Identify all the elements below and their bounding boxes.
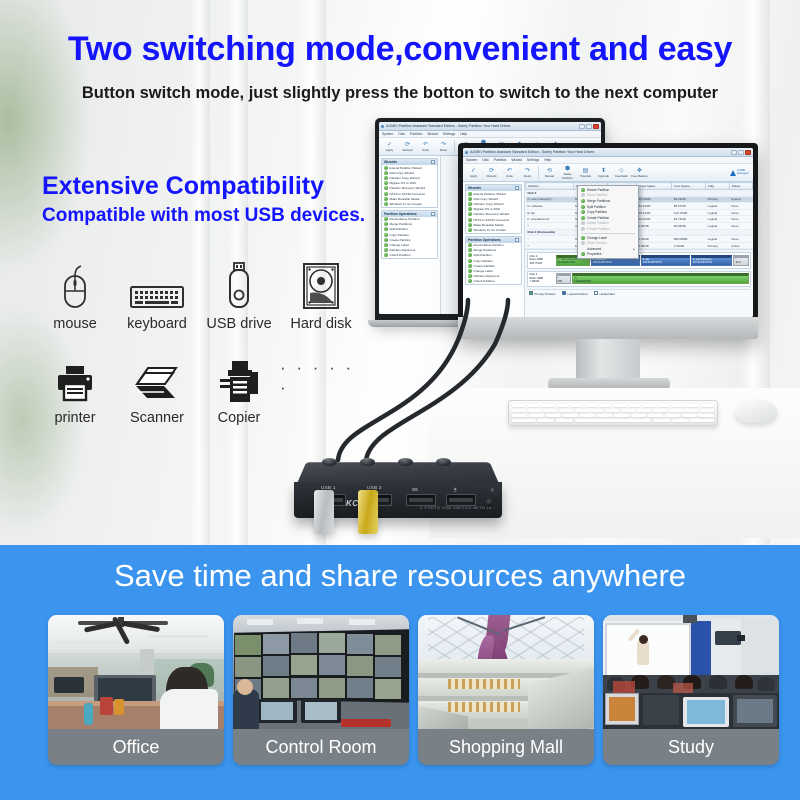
context-menu-label: Split Partition (587, 205, 606, 209)
key (686, 404, 699, 407)
toolbar: ✓Apply ⟳Discard ↶Undo ↷Redo ⟲Reload ⬢Saf… (463, 164, 753, 182)
key (690, 419, 714, 422)
sidebar-item-label: Extend Partition Wizard (474, 192, 506, 196)
context-menu-label: Change Label (587, 236, 607, 240)
partition-block[interactable]: *30.0... (733, 255, 748, 266)
legend-item-logical: Logical Partition (562, 291, 588, 296)
key (599, 404, 612, 407)
menu-item-help[interactable]: Help (460, 132, 467, 136)
sidebar-item[interactable]: Windows To Go Creator (382, 201, 437, 206)
mouse-port-icon: 🖱 (454, 487, 456, 492)
wizard-icon (468, 228, 472, 232)
wipe-icon (581, 241, 585, 245)
menubar: System Disk Partition Wizard Settings He… (379, 131, 601, 138)
cell-flag: Logical (706, 236, 730, 243)
shopping-mall-photo (418, 615, 594, 729)
sidebar-item[interactable]: Check Partition (466, 279, 521, 284)
sidebar-item-label: Disk Copy Wizard (390, 171, 415, 175)
cell-free: 46.71GB (672, 216, 706, 223)
collapse-icon[interactable] (431, 160, 435, 164)
toolbar-button-tutorials[interactable]: ▤Tutorials (577, 167, 594, 178)
context-menu-label: Format Partition (587, 227, 610, 231)
disk-map: Disk 0 Basic MBR 465.76GB C: new volume(… (525, 249, 753, 298)
legend-swatch-icon (562, 291, 566, 295)
toolbar-button-undo[interactable]: ↶Undo (501, 167, 518, 178)
disk-group-label: Disk 0 (526, 190, 753, 197)
sidebar-item-label: Partition Recovery Wizard (474, 212, 510, 216)
operation-icon (384, 222, 388, 226)
key (597, 414, 612, 417)
key (637, 409, 651, 412)
mouse-icon (60, 258, 90, 310)
use-case-cards: Office (48, 615, 779, 765)
format-icon (581, 227, 585, 231)
sidebar: Wizards Extend Partition Wizard Disk Cop… (379, 156, 441, 314)
cell-partition: E: file (526, 209, 574, 216)
context-menu-label: Properties (587, 252, 602, 256)
legend-label: Primary Partition (535, 292, 556, 296)
menu-item-partition[interactable]: Partition (410, 132, 422, 136)
sidebar-item-label: Disk Copy Wizard (474, 197, 499, 201)
toolbar-button-feedback[interactable]: ☺Feedback (613, 167, 630, 178)
device-label: Copier (218, 410, 261, 426)
sidebar-item-label: Merge Partitions (390, 222, 413, 226)
key (669, 409, 683, 412)
label-icon (581, 236, 585, 240)
cell-free: 59.21GB (672, 196, 706, 203)
wizard-icon (384, 202, 388, 206)
key (580, 414, 595, 417)
table-row[interactable]: * Unallocated 30.09GB 0.00GB 30.09GB Log… (526, 222, 753, 229)
card-caption: Shopping Mall (418, 729, 594, 765)
disk-group-label: Disk 2 (Removable) (526, 229, 753, 236)
menu-item-wizard[interactable]: Wizard (427, 132, 438, 136)
aomei-brand-logo: AOMEIbackupper (730, 170, 751, 176)
context-menu-label: Create Partition (587, 216, 609, 220)
sidebar-item-label: Partition Alignment (390, 248, 416, 252)
toolbar-button-upgrade[interactable]: ⬆Upgrade (595, 167, 612, 178)
ir-receiver[interactable] (486, 498, 493, 507)
menu-item-system[interactable]: System (382, 132, 393, 136)
wizard-icon (468, 202, 472, 206)
context-menu-item: Format Partition (578, 226, 638, 232)
toolbar-button-apply[interactable]: ✓Apply (465, 167, 482, 178)
panel-wizards: Wizards Extend Partition Wizard Disk Cop… (465, 184, 522, 234)
sidebar-item[interactable]: Windows To Go Creator (466, 227, 521, 232)
photo-art (418, 615, 594, 729)
wizard-icon (468, 207, 472, 211)
cell-flag: Logical (706, 222, 730, 229)
monitor-stand-neck (576, 339, 640, 381)
toolbar-label: Discard (487, 174, 497, 178)
wizard-icon (468, 218, 472, 222)
key (653, 419, 670, 422)
menu-item-partition[interactable]: Partition (494, 158, 506, 162)
disk-map-legend: Primary Partition Logical Partition Unal… (527, 289, 751, 297)
panel-title: Wizards (384, 160, 397, 164)
sidebar-item-label: Resize/Move Partition (474, 243, 504, 247)
toolbar-button-redo[interactable]: ↷Redo (435, 141, 452, 152)
card-caption: Control Room (233, 729, 409, 765)
partition-context-menu[interactable]: Resize Partition Move Partition Merge Pa… (577, 185, 639, 259)
toolbar-label: Feedback (615, 174, 628, 178)
context-menu-label: Delete Partition (587, 221, 609, 225)
sidebar-item-label: Resize/Move Partition (390, 217, 420, 221)
collapse-icon[interactable] (515, 238, 519, 242)
key (653, 409, 667, 412)
context-menu-label: Resize Partition (587, 188, 609, 192)
cell-flag: Logical (706, 216, 730, 223)
use-case-card-study[interactable]: Study (603, 615, 779, 765)
window-titlebar: AOMEI Partition Assistant Standard Editi… (379, 122, 601, 131)
operation-icon (384, 217, 388, 221)
toolbar-label: Free Backup (631, 174, 647, 178)
device-label: Scanner (130, 410, 184, 426)
cell-flag: Logical (706, 203, 730, 210)
sidebar-item-label: Change Label (474, 269, 493, 273)
brand-sub-label: backupper (737, 172, 749, 175)
photo-art (233, 615, 409, 729)
device-item-mouse: mouse (34, 258, 116, 332)
cell-status: None (729, 222, 752, 229)
operation-icon (384, 238, 388, 242)
sidebar-item-label: Check Partition (474, 279, 495, 283)
key (701, 404, 714, 407)
wizard-icon (384, 166, 388, 170)
resize-icon (581, 188, 585, 192)
legend-label: Unallocated (599, 292, 614, 296)
device-model-text: 4 PORTS USB SWITCH WITH IR (420, 506, 492, 510)
legend-item-primary: Primary Partition (529, 291, 556, 296)
operation-icon (468, 264, 472, 268)
partition-sub: 107.61GB NTFS (693, 261, 712, 264)
toolbar-label: Reload (545, 174, 554, 178)
sidebar-item-label: Migrate OS to SSD (474, 207, 500, 211)
copy-icon (581, 210, 585, 214)
use-case-card-office[interactable]: Office (48, 615, 224, 765)
wizard-icon (468, 197, 472, 201)
column-free-space[interactable]: Free Space (672, 183, 706, 190)
cell-flag: Logical (706, 209, 730, 216)
menubar: System Disk Partition Wizard Settings He… (463, 157, 753, 164)
menu-item-help[interactable]: Help (544, 158, 551, 162)
advanced-icon (581, 247, 585, 251)
sidebar-item-label: Windows To Go Creator (390, 202, 423, 206)
toolbar-button-undo[interactable]: ↶Undo (417, 141, 434, 152)
wizard-icon (384, 171, 388, 175)
device-label: printer (54, 410, 95, 426)
cell-flag: Primary (706, 196, 730, 203)
toolbar-label: Redo (440, 148, 447, 152)
maximize-button[interactable] (738, 150, 744, 155)
cell-free: 58.67GB (672, 203, 706, 210)
sidebar-item-label: Copy Partition (474, 259, 493, 263)
operation-icon (384, 233, 388, 237)
cell-used: 0.00GB (636, 222, 671, 229)
disk-info: Disk 0 Basic MBR 465.76GB (530, 255, 554, 266)
page-subheadline: Button switch mode, just slightly press … (0, 84, 800, 103)
operation-icon (468, 243, 472, 247)
toolbar-button-apply[interactable]: ✓Apply (381, 141, 398, 152)
control-room-photo (233, 615, 409, 729)
keyboard-icon (130, 258, 184, 310)
partition-sub: 30.0... (735, 261, 742, 264)
key (631, 414, 646, 417)
toolbar-label: Redo (524, 174, 531, 178)
table-row[interactable]: * Unallocated 995.00MB 0.00GB 995.00MB L… (526, 236, 753, 243)
cell-partition: F: entertainment (526, 216, 574, 223)
photo-art (48, 615, 224, 729)
copier-icon (219, 352, 259, 404)
operation-icon (384, 253, 388, 257)
table-row[interactable]: D: software NTFS 139.01GB 80.34GB 58.67G… (526, 203, 753, 210)
printer-icon (55, 352, 95, 404)
key (590, 409, 604, 412)
context-menu-label: Wipe Partition (587, 241, 607, 245)
cell-status: None (729, 203, 752, 210)
window-title: AOMEI Partition Assistant Standard Editi… (386, 124, 510, 128)
sidebar-item-label: Split Partition (390, 227, 408, 231)
use-case-card-shopping-mall[interactable]: Shopping Mall (418, 615, 594, 765)
panel-title: Wizards (468, 186, 481, 190)
sidebar-item-label: Make Bootable Media (474, 223, 504, 227)
table-row[interactable]: E: file NTFS 139.01GB 28.31GB 110.70GB L… (526, 209, 753, 216)
sidebar-item-label: Merge Partitions (474, 248, 497, 252)
cell-used: 30.79GB (636, 196, 671, 203)
toolbar-button-free-backup[interactable]: ❖Free Backup (631, 167, 648, 178)
wizard-icon (384, 181, 388, 185)
merge-icon (581, 199, 585, 203)
kvm-switch-device[interactable]: KCEVE 4 PORTS USB SWITCH WITH IR USB 1 U… (288, 440, 508, 535)
compatibility-title: Extensive Compatibility (42, 172, 324, 201)
panel-title: Partition Operations (468, 238, 501, 242)
usb-drive-icon (226, 258, 252, 310)
key (648, 414, 663, 417)
disk-info: Disk 2 Basic MBR 7.98GB (530, 273, 554, 284)
window-title: AOMEI Partition Assistant Standard Editi… (470, 150, 594, 154)
sidebar-item-label: Copy Partition (390, 233, 409, 237)
device-item-keyboard: keyboard (116, 258, 198, 332)
scanner-icon (134, 352, 180, 404)
sidebar-item-label: Partition Copy Wizard (474, 202, 504, 206)
key (698, 414, 713, 417)
operation-icon (384, 248, 388, 252)
sidebar-item-label: Partition Alignment (474, 274, 500, 278)
close-button[interactable] (745, 150, 751, 155)
pc4-button[interactable] (436, 458, 451, 466)
toolbar-button-redo[interactable]: ↷Redo (519, 167, 536, 178)
operation-icon (468, 269, 472, 273)
study-photo (603, 615, 779, 729)
cell-free: 110.70GB (672, 209, 706, 216)
use-case-card-control-room[interactable]: Control Room (233, 615, 409, 765)
operation-icon (468, 253, 472, 257)
operation-icon (468, 248, 472, 252)
partition-sub: 90.01GB NTFS (558, 261, 576, 264)
device-item-scanner: Scanner (116, 352, 198, 426)
toolbar-button-discard[interactable]: ⟳Discard (483, 167, 500, 178)
operation-icon (468, 259, 472, 263)
sidebar-item-label: Split Partition (474, 253, 492, 257)
sidebar-item-label: Create Partition (390, 238, 412, 242)
mouse-port[interactable] (446, 494, 476, 506)
table-row[interactable]: *: FAT32 7.12GB 5.58GB 1.54GB Primary Ac… (526, 242, 753, 249)
toolbar-button-discard[interactable]: ⟳Discard (399, 141, 416, 152)
device-item-copier: Copier (198, 352, 280, 426)
table-group-row[interactable]: Disk 2 (Removable) (526, 229, 753, 236)
sidebar-item-label: NTFS to FAT32 Converter (474, 218, 510, 222)
sidebar-item-label: Make Bootable Media (390, 197, 420, 201)
chevron-right-icon: ▸ (633, 247, 635, 251)
cell-partition: * (526, 222, 574, 229)
cell-partition: D: software (526, 203, 574, 210)
toolbar-label: Undo (506, 174, 513, 178)
legend-item-unallocated: Unallocated (594, 291, 615, 296)
bottom-banner: Save time and share resources anywhere (0, 545, 800, 800)
context-menu-label: Copy Partition (587, 210, 607, 214)
sidebar-item-label: Extend Partition Wizard (390, 166, 422, 170)
app-icon (381, 125, 384, 128)
wizard-icon (468, 212, 472, 216)
panel-partition-operations: Partition Operations Resize/Move Partiti… (465, 236, 522, 286)
menu-item-wizard[interactable]: Wizard (511, 158, 522, 162)
operation-icon (468, 274, 472, 278)
cell-used: 28.31GB (636, 209, 671, 216)
banner-title: Save time and share resources anywhere (0, 558, 800, 594)
cell-flag: Primary (706, 242, 730, 249)
legend-swatch-icon (594, 291, 598, 295)
ir-icon: ◎ (491, 487, 495, 492)
device-item-printer: printer (34, 352, 116, 426)
toolbar-button-safely-partition[interactable]: ⬢Safely Partition (559, 165, 576, 179)
column-flag[interactable]: Flag (706, 183, 730, 190)
sidebar-item-label: Partition Recovery Wizard (390, 186, 426, 190)
sidebar-item-label: NTFS to FAT32 Converter (390, 192, 426, 196)
sidebar-item[interactable]: Check Partition (382, 253, 437, 258)
product-marketing-image: Two switching mode,convenient and easy B… (0, 0, 800, 800)
minimize-button[interactable] (579, 124, 585, 129)
pc1-button[interactable] (322, 458, 337, 466)
partition-block[interactable]: F: entertainment107.61GB NTFS (691, 255, 733, 266)
desktop-mouse[interactable] (735, 399, 777, 423)
menu-item-system[interactable]: System (466, 158, 477, 162)
column-partition[interactable]: Partition (526, 183, 574, 190)
table-row[interactable]: C: new volume(C:) NTFS 90.01GB 30.79GB 5… (526, 196, 753, 203)
toolbar-separator (454, 140, 455, 153)
menu-item-disk[interactable]: Disk (398, 132, 405, 136)
menu-item-disk[interactable]: Disk (482, 158, 489, 162)
partition-block[interactable]: E: file139.01GB NTFS (641, 255, 690, 266)
cell-used: 60.92GB (636, 216, 671, 223)
collapse-icon[interactable] (431, 212, 435, 216)
disk-size: 465.76GB (530, 262, 554, 265)
partition-table: Partition File System Capacity Used Spac… (525, 182, 753, 249)
cell-partition: C: new volume(C:) (526, 196, 574, 203)
key (657, 404, 670, 407)
context-menu-label: Advanced (587, 247, 601, 251)
context-menu-separator (581, 233, 635, 234)
collapse-icon[interactable] (515, 186, 519, 190)
cell-status: System (729, 196, 752, 203)
partition-block[interactable]: *:995... (556, 273, 571, 284)
top-scene: Two switching mode,convenient and easy B… (0, 0, 800, 545)
photo-art (603, 615, 779, 729)
key (672, 419, 689, 422)
page-headline: Two switching mode,convenient and easy (0, 30, 800, 69)
sidebar: Wizards Extend Partition Wizard Disk Cop… (463, 182, 525, 317)
context-menu-label: Merge Partitions (587, 199, 610, 203)
triangle-icon (730, 170, 736, 176)
cell-free: 995.00MB (672, 236, 706, 243)
cell-partition: * (526, 236, 574, 243)
usb-flash-drive-silver (314, 490, 334, 534)
keyboard-port-icon: ⌨ (412, 487, 418, 492)
create-icon (581, 216, 585, 220)
window-controls (731, 150, 751, 155)
toolbar-button-reload[interactable]: ⟲Reload (541, 167, 558, 178)
operation-icon (384, 243, 388, 247)
wizard-icon (384, 186, 388, 190)
toolbar-label: Apply (470, 174, 477, 178)
table-row[interactable]: F: entertainment NTFS 107.61GB 60.92GB 4… (526, 216, 753, 223)
minimize-button[interactable] (731, 150, 737, 155)
disk-map-row[interactable]: Disk 2 Basic MBR 7.98GB *:995... (*:)7.1… (527, 271, 751, 287)
compatibility-subtitle: Compatible with most USB devices. (42, 205, 365, 227)
close-button[interactable] (593, 124, 599, 129)
cell-free: 30.09GB (672, 222, 706, 229)
toolbar-label: Safely Partition (562, 172, 573, 179)
toolbar-separator (538, 166, 539, 179)
key (614, 404, 627, 407)
table-group-row[interactable]: Disk 0 (526, 190, 753, 197)
wizard-icon (384, 176, 388, 180)
sidebar-item-label: Create Partition (474, 264, 496, 268)
menu-item-settings[interactable]: Settings (527, 158, 539, 162)
properties-icon (581, 252, 585, 256)
menu-item-settings[interactable]: Settings (443, 132, 455, 136)
context-menu-label: Move Partition (587, 193, 607, 197)
cell-partition: *: (526, 242, 574, 249)
keyboard-port[interactable] (406, 494, 436, 506)
device-label: keyboard (127, 316, 187, 332)
key (672, 404, 685, 407)
sidebar-item-label: Change Label (390, 243, 409, 247)
key (700, 409, 714, 412)
toolbar-label: Undo (422, 148, 429, 152)
pc3-button[interactable] (398, 458, 413, 466)
toolbar-label: Apply (386, 148, 393, 152)
partition-block[interactable]: (*:)7.12GB FAT32 (572, 273, 749, 284)
table-header-row: Partition File System Capacity Used Spac… (526, 183, 753, 190)
pc2-button[interactable] (360, 458, 375, 466)
spacebar-key (575, 419, 652, 422)
cell-used: 5.58GB (636, 242, 671, 249)
disk-map-row[interactable]: Disk 0 Basic MBR 465.76GB C: new volume(… (527, 252, 751, 268)
card-caption: Office (48, 729, 224, 765)
cell-free: 1.54GB (672, 242, 706, 249)
context-menu-item[interactable]: Properties (578, 252, 638, 258)
device-label: USB drive (206, 316, 271, 332)
partition-sub: 139.01GB NTFS (643, 261, 662, 264)
key (585, 404, 598, 407)
column-status[interactable]: Status (729, 183, 752, 190)
maximize-button[interactable] (586, 124, 592, 129)
column-used-space[interactable]: Used Space (636, 183, 671, 190)
cell-status: Active (729, 242, 752, 249)
app-icon (465, 151, 468, 154)
disk-partitions: *:995... (*:)7.12GB FAT32 (556, 273, 749, 284)
operation-icon (468, 279, 472, 283)
